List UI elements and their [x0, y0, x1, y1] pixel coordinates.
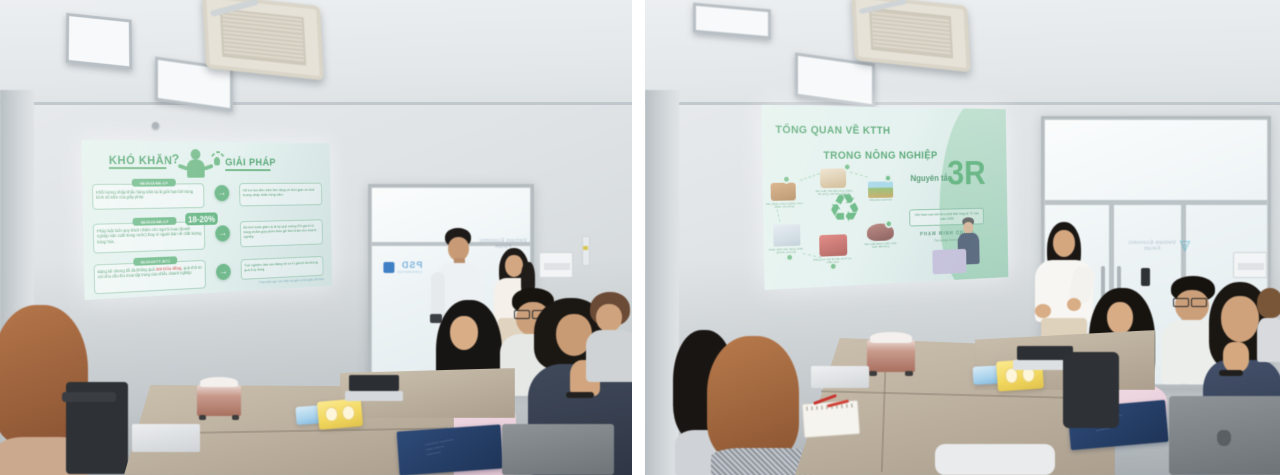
seated-attendee-back-row [586, 292, 632, 382]
macbook [1169, 396, 1280, 475]
projection-screen-left: KHÓ KHĂN ? GIẢI PHÁP 08/2022/NĐ-CP Khối … [81, 140, 332, 300]
laptop-screen [349, 375, 399, 391]
photo-pair-stage: KHÓ KHĂN ? GIẢI PHÁP 08/2022/NĐ-CP Khối … [0, 0, 1280, 475]
snack-logo-oval [324, 406, 338, 422]
laptop-lid [502, 424, 614, 475]
projection-screen-right: TỔNG QUAN VỀ KTTH TRONG NÔNG NGHIỆP ♻ Sả… [761, 105, 1008, 290]
booklet-text: ———— —————— ——————— [425, 430, 493, 457]
bracelet [566, 392, 594, 398]
photo-divider [632, 0, 645, 475]
electrical-panel [1233, 252, 1267, 278]
tissue-box [197, 385, 241, 416]
electrical-panel [539, 252, 573, 278]
torso [1257, 318, 1280, 362]
laptop-open [345, 375, 403, 403]
psd-square-icon [383, 262, 394, 273]
tissue-box-foot [199, 415, 206, 420]
tissue-box-body [867, 340, 915, 372]
right-photograph: TỔNG QUAN VỀ KTTH TRONG NÔNG NGHIỆP ♻ Sả… [645, 0, 1280, 475]
torso [586, 330, 632, 382]
ceiling-cassette-ac [851, 0, 970, 72]
face [1107, 302, 1133, 334]
vef-triangle-icon [1179, 240, 1191, 252]
glass-wall-logo: Vietnam Economic Forum [1127, 240, 1177, 253]
hair [707, 336, 799, 460]
ac-grill [869, 8, 953, 59]
hand-on-chin [1223, 342, 1249, 372]
psd-logo-text-group: PSD CORPORATION [397, 260, 422, 274]
eyeglasses-icon [1173, 298, 1189, 307]
tissue-box-body [197, 385, 241, 416]
tissue-box-foot [905, 371, 913, 376]
laptop-lid [132, 424, 200, 452]
booklet: ———— —————— ——————— [397, 424, 504, 475]
tissue-box [867, 340, 915, 372]
left-photograph: KHÓ KHĂN ? GIẢI PHÁP 08/2022/NĐ-CP Khối … [0, 0, 632, 475]
snack-logo-oval [341, 405, 355, 421]
smoke-detector [152, 122, 159, 129]
face [1053, 230, 1075, 257]
tissue-box-foot [869, 371, 877, 376]
ceiling-cassette-ac [202, 0, 324, 81]
office-chair [1063, 352, 1119, 428]
face [450, 316, 478, 350]
laptop-lid [811, 366, 869, 388]
chair-armrest [62, 392, 116, 402]
psd-sublabel: CORPORATION [397, 270, 422, 274]
bracelet [1219, 370, 1243, 376]
panel-strip [1238, 263, 1264, 270]
hair [1257, 288, 1280, 318]
face [1221, 296, 1259, 342]
seated-attendee-far-right [1257, 288, 1280, 360]
apple-logo-icon [1217, 430, 1231, 446]
led-panel-light [66, 13, 133, 70]
seated-attendee-brown-hair-right [707, 336, 817, 475]
laptop-silver [502, 424, 614, 475]
laptop-keyboard-base [345, 391, 403, 401]
hand [1067, 298, 1081, 311]
projection-glare [761, 105, 1008, 290]
laptop-closed-white [811, 366, 869, 388]
window-mullion [1045, 200, 1267, 205]
panel-strip [544, 263, 570, 270]
card-reader [1141, 268, 1150, 286]
psd-logo: PSD CORPORATION [383, 260, 422, 274]
tissue-sheet [200, 377, 239, 388]
laptop-closed [132, 424, 200, 452]
psd-label: PSD [397, 260, 422, 270]
face [596, 304, 622, 332]
tissue-box-foot [232, 415, 239, 420]
tissue-sheet [870, 332, 912, 343]
ac-grill [220, 9, 306, 66]
status-indicator [583, 246, 588, 250]
hand-holding-clicker [1035, 304, 1051, 318]
projection-glare [81, 140, 332, 300]
wall-switch [582, 236, 590, 266]
office-chair-white [935, 444, 1055, 475]
